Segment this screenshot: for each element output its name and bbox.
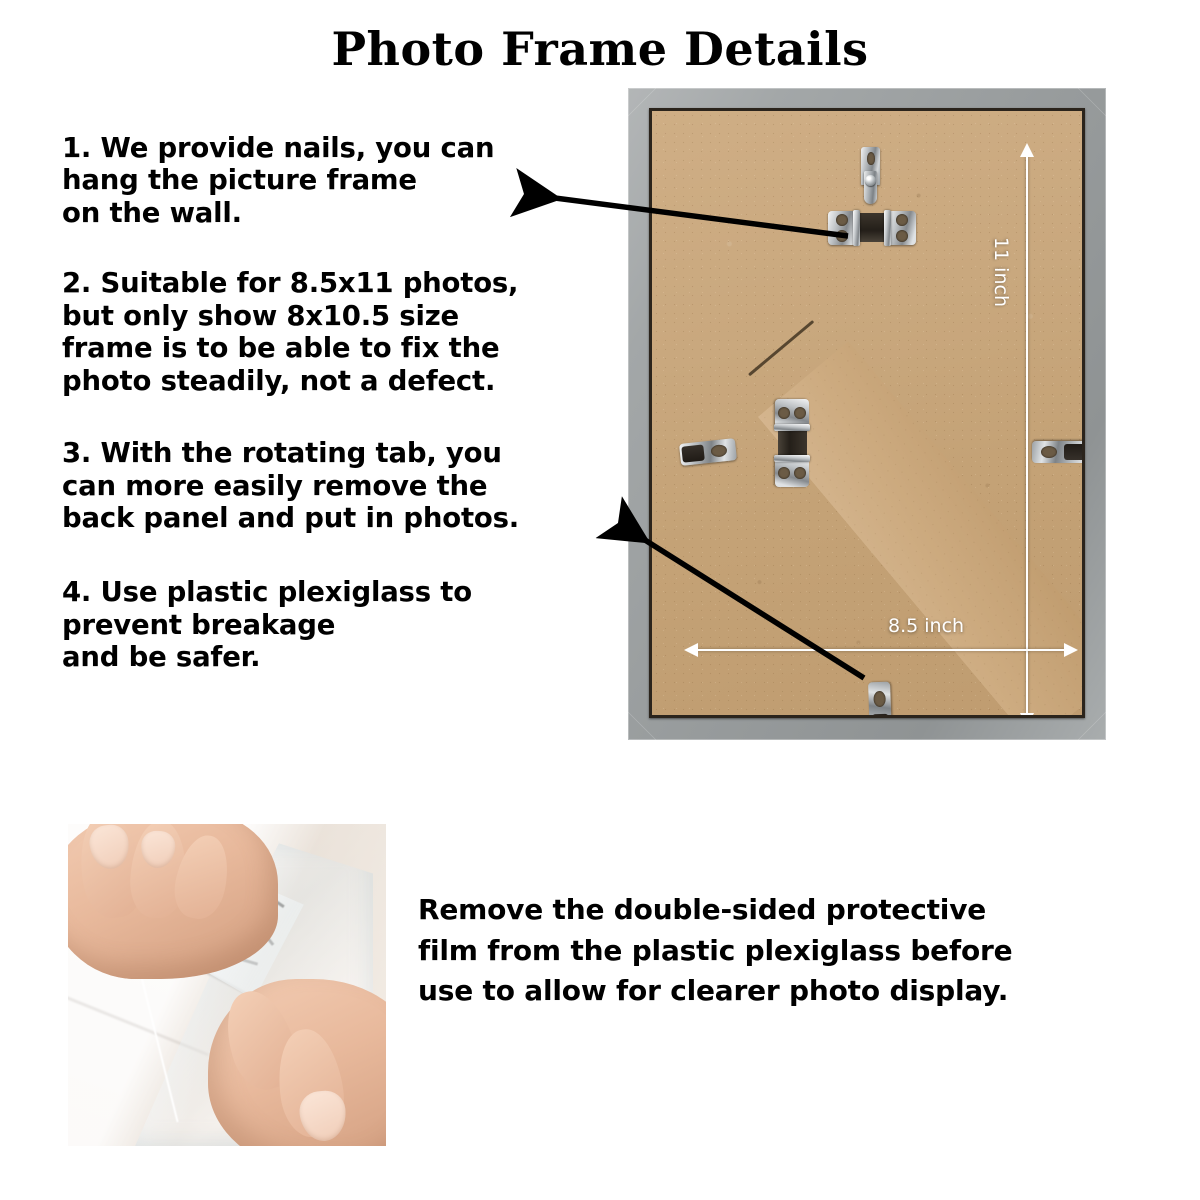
frame-back-photo: 11 inch 8.5 inch bbox=[628, 88, 1106, 740]
film-removal-note: Remove the double-sided protective film … bbox=[418, 890, 1158, 1012]
tab-wing-right bbox=[775, 459, 809, 487]
instruction-photo-size: 2. Suitable for 8.5x11 photos, but only … bbox=[62, 267, 632, 397]
hanger-rivet bbox=[865, 175, 876, 186]
easel-kickstand bbox=[758, 341, 1082, 715]
arrow-head-up-icon bbox=[1020, 143, 1034, 157]
instruction-list: 1. We provide nails, you can hang the pi… bbox=[62, 132, 632, 674]
rotating-tab-top bbox=[828, 211, 916, 245]
instruction-line: on the wall. bbox=[62, 197, 632, 229]
tab-hole bbox=[836, 230, 848, 242]
tab-bar bbox=[884, 210, 891, 246]
tab-hole bbox=[778, 467, 790, 479]
instruction-line: and be safer. bbox=[62, 641, 632, 673]
clip-recess bbox=[681, 444, 705, 462]
instruction-line: back panel and put in photos. bbox=[62, 502, 632, 534]
infographic-page: Photo Frame Details 1. We provide nails,… bbox=[0, 0, 1200, 1200]
instruction-line: 2. Suitable for 8.5x11 photos, bbox=[62, 267, 632, 299]
clip-recess bbox=[872, 714, 889, 715]
tab-bar bbox=[853, 210, 860, 246]
tab-hole bbox=[794, 467, 806, 479]
rotating-tab-clip-bottom bbox=[868, 682, 892, 715]
film-note-line: film from the plastic plexiglass before bbox=[418, 931, 1158, 972]
hand-lower bbox=[208, 979, 386, 1146]
tab-wing-left bbox=[828, 211, 856, 245]
instruction-line: can more easily remove the bbox=[62, 470, 632, 502]
rotating-tab-middle bbox=[775, 399, 809, 487]
instruction-line: prevent breakage bbox=[62, 609, 632, 641]
instruction-line: 4. Use plastic plexiglass to bbox=[62, 576, 632, 608]
instruction-line: but only show 8x10.5 size bbox=[62, 300, 632, 332]
tab-hole bbox=[896, 230, 908, 242]
rotating-tab-clip-right bbox=[1032, 441, 1082, 463]
tab-hole bbox=[896, 214, 908, 226]
dimension-label-width: 8.5 inch bbox=[888, 615, 964, 637]
tab-bar bbox=[774, 455, 810, 462]
tab-hole bbox=[778, 407, 790, 419]
instruction-rotating-tab: 3. With the rotating tab, you can more e… bbox=[62, 437, 632, 534]
instruction-line: 3. With the rotating tab, you bbox=[62, 437, 632, 469]
instruction-line: photo steadily, not a defect. bbox=[62, 365, 632, 397]
tab-bar bbox=[774, 424, 810, 431]
tab-hole bbox=[836, 214, 848, 226]
clip-recess bbox=[1064, 444, 1082, 460]
dimension-label-height: 11 inch bbox=[990, 237, 1012, 307]
arrow-head-left-icon bbox=[684, 643, 698, 657]
easel-crease-line bbox=[748, 320, 814, 376]
frame-backing-board: 11 inch 8.5 inch bbox=[652, 111, 1082, 715]
instruction-plexiglass: 4. Use plastic plexiglass to prevent bre… bbox=[62, 576, 632, 673]
tab-wing-left bbox=[775, 399, 809, 427]
rotating-tab-clip-left bbox=[679, 438, 737, 466]
instruction-nails-hanging: 1. We provide nails, you can hang the pi… bbox=[62, 132, 632, 229]
hanger-keyhole bbox=[867, 152, 875, 165]
plexiglass-film-photo bbox=[68, 824, 386, 1146]
instruction-line: hang the picture frame bbox=[62, 164, 632, 196]
clip-hole bbox=[1041, 446, 1057, 458]
film-note-line: use to allow for clearer photo display. bbox=[418, 971, 1158, 1012]
instruction-line: 1. We provide nails, you can bbox=[62, 132, 632, 164]
hand-upper bbox=[68, 824, 278, 979]
instruction-line: frame is to be able to fix the bbox=[62, 332, 632, 364]
film-note-line: Remove the double-sided protective bbox=[418, 890, 1158, 931]
page-title: Photo Frame Details bbox=[0, 24, 1200, 75]
tab-wing-right bbox=[888, 211, 916, 245]
sawtooth-hanger-icon bbox=[858, 147, 883, 209]
tab-hole bbox=[794, 407, 806, 419]
